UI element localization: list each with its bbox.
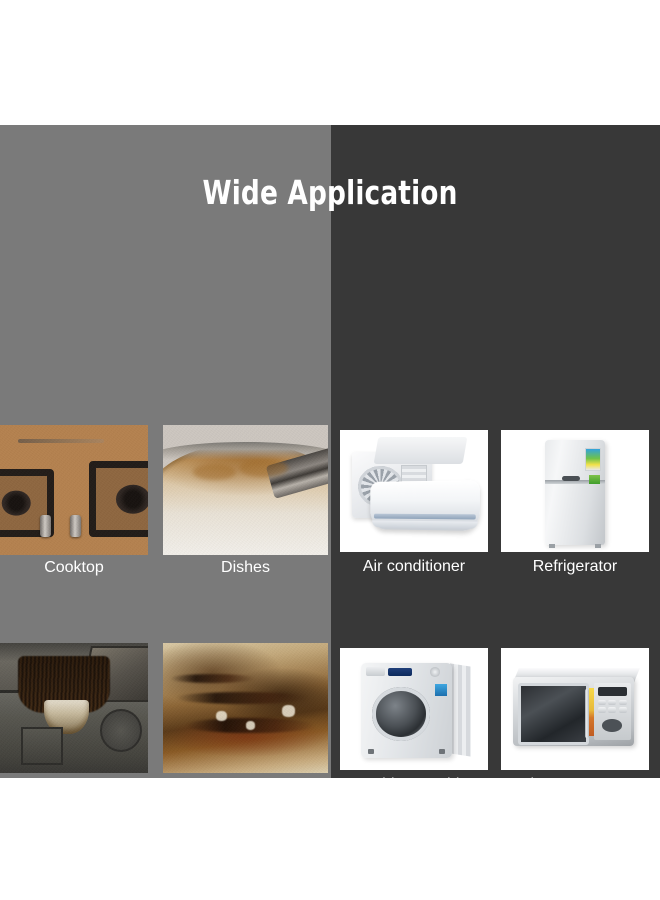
detergent-drawer [366,667,384,676]
energy-rating-label [585,448,601,471]
dirty-gas-cooktop-photo [0,425,148,555]
grease-streak [170,674,256,683]
washing-machine-display [388,668,412,676]
refrigerator-foot [595,544,601,548]
energy-rating-label [435,684,447,696]
caption-cooktop: Cooktop [0,559,148,577]
caption-refrigerator: Refrigerator [501,558,649,576]
washing-machine-foot [439,749,445,754]
microwave-cabinet [513,677,634,745]
washing-machine-cabinet [361,663,453,758]
lampblack-machine-thumbnail [0,643,148,773]
refrigerator-green-sticker [589,475,600,483]
wall-thumbnail [163,643,328,773]
microwave-control-panel [594,683,630,740]
cooktop-thumbnail [0,425,148,555]
product-feature-banner: Wide Application Cooktop [0,0,660,900]
microwave-button [608,707,616,712]
microwave-door [518,683,590,745]
ac-bottom-lip [372,521,478,529]
washing-machine-side-panel [450,663,471,757]
wide-application-panel: Wide Application Cooktop [0,125,660,778]
range-hood-filter-grid [21,727,63,765]
refrigerator-cabinet [545,440,604,545]
burnt-residue-spot [239,459,289,477]
grease-stained-wall-photo [163,643,328,773]
wall-paint-chip [282,705,295,717]
washing-machine-foot [368,749,374,754]
microwave-button [619,700,627,705]
washing-machine-thumbnail [340,648,488,770]
cooktop-backsplash-rail [18,439,104,443]
microwave-button [598,700,606,705]
burnt-pot-bottom-photo [163,425,328,555]
microwave-door-handle [585,689,590,738]
two-door-refrigerator-photo [501,430,649,552]
program-selector-dial [430,667,440,677]
front-load-washing-machine-photo [340,648,488,770]
cooktop-knob-right [70,515,81,537]
refrigerator-thumbnail [501,430,649,552]
ac-outdoor-top-cover [373,437,467,464]
burnt-residue-spot [193,464,236,480]
photo-grain [163,643,328,773]
cooktop-knob-left [40,515,51,537]
caption-wall: Wall [163,777,328,778]
microwave-oven-thumbnail [501,648,649,770]
refrigerator-foot [549,544,555,548]
greasy-range-hood-photo [0,643,148,773]
microwave-button [598,707,606,712]
microwave-button [608,700,616,705]
split-air-conditioner-photo [340,430,488,552]
washing-machine-door [372,687,431,740]
air-conditioner-thumbnail [340,430,488,552]
microwave-dial-knob [602,719,622,732]
caption-air-conditioner: Air conditioner [340,558,488,576]
cooktop-burner-grate-right [89,461,148,537]
ac-indoor-unit [370,480,480,531]
ac-air-vent [374,514,475,520]
wall-paint-chip [246,721,256,730]
refrigerator-door-handle [562,476,580,481]
microwave-button [619,707,627,712]
wall-paint-chip [216,711,228,721]
caption-dishes: Dishes [163,559,328,577]
microwave-display [598,687,627,696]
caption-lampblack-machine: Lampblack machine [0,777,148,778]
stainless-microwave-oven-photo [501,648,649,770]
caption-microwave-oven: Microwave oven [501,776,649,778]
range-hood-fan-port [100,709,142,752]
grease-streak [176,692,308,704]
dishes-thumbnail [163,425,328,555]
page-title: Wide Application [66,173,594,212]
caption-washing-machine: Washing machine [340,776,488,778]
